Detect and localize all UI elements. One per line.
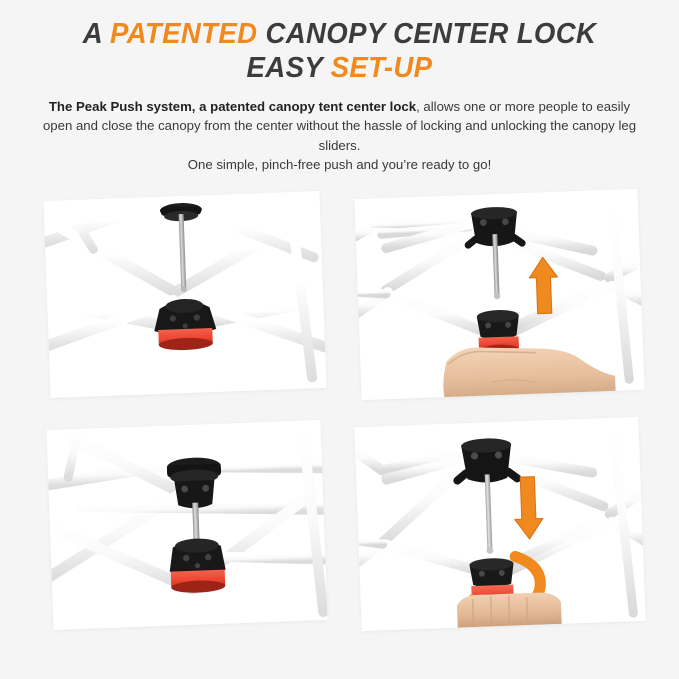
product-photo-grid bbox=[0, 183, 679, 661]
description-bold-lead: The Peak Push system, a patented canopy … bbox=[49, 99, 416, 114]
page-title: A PATENTED CANOPY CENTER LOCK EASY SET-U… bbox=[38, 18, 641, 86]
description-closing-line: One simple, pinch-free push and you’re r… bbox=[40, 155, 640, 174]
center-lock-hub-icon bbox=[169, 538, 227, 594]
headline-accent-setup: SET-UP bbox=[331, 52, 433, 84]
header-section: A PATENTED CANOPY CENTER LOCK EASY SET-U… bbox=[0, 0, 679, 174]
headline-line-2: EASY SET-UP bbox=[38, 52, 641, 86]
description-paragraph: The Peak Push system, a patented canopy … bbox=[40, 97, 640, 155]
headline-text-b: CANOPY CENTER LOCK bbox=[257, 18, 596, 50]
panel-top-right bbox=[354, 189, 644, 400]
hand-two-grip-icon bbox=[457, 592, 562, 631]
headline-accent-patented: PATENTED bbox=[110, 18, 257, 50]
description-block: The Peak Push system, a patented canopy … bbox=[40, 97, 640, 175]
headline-text-c: EASY bbox=[247, 52, 331, 84]
panel-bottom-left bbox=[46, 420, 327, 630]
panel-bottom-right bbox=[354, 417, 645, 631]
panel-top-left bbox=[43, 191, 326, 398]
headline-line-1: A PATENTED CANOPY CENTER LOCK bbox=[38, 18, 641, 52]
headline-text-a: A bbox=[83, 18, 110, 50]
